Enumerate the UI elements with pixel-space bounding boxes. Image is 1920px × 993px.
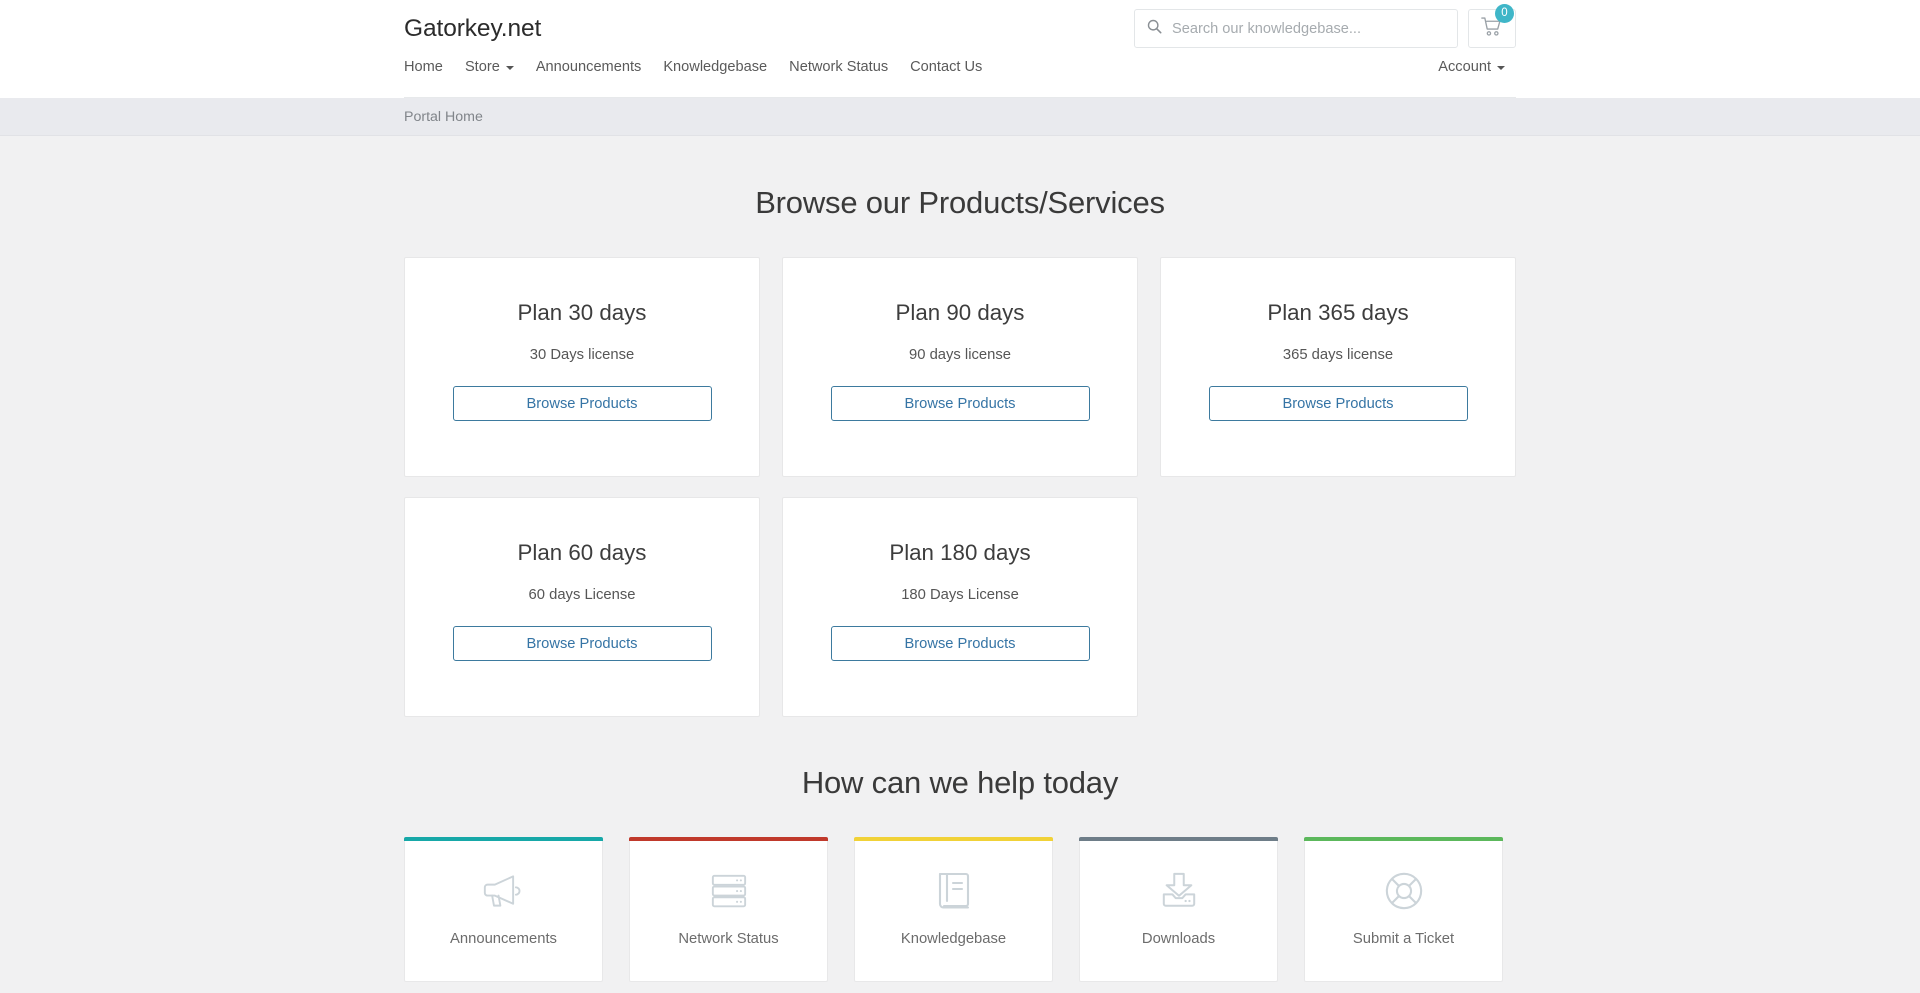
help-card-announcements[interactable]: Announcements (404, 837, 603, 982)
product-description: 60 days License (529, 587, 636, 603)
nav-item-contact-us[interactable]: Contact Us (899, 57, 993, 88)
browse-products-button[interactable]: Browse Products (1209, 386, 1468, 421)
product-card: Plan 60 days 60 days License Browse Prod… (404, 497, 760, 717)
shopping-cart-button[interactable]: 0 (1468, 9, 1516, 48)
card-accent-bar (1304, 837, 1503, 841)
nav-item-label: Home (404, 59, 443, 75)
product-title: Plan 365 days (1267, 300, 1408, 326)
product-description: 30 Days license (530, 347, 634, 363)
help-card-downloads[interactable]: Downloads (1079, 837, 1278, 982)
nav-item-label: Store (465, 59, 500, 75)
chevron-down-icon (506, 66, 514, 70)
products-section-title: Browse our Products/Services (404, 185, 1516, 221)
header-top-bar: Gatorkey.net (404, 0, 1516, 57)
nav-primary-links: Home Store Announcements Knowledgebase N… (404, 57, 993, 88)
breadcrumb-item-portal-home[interactable]: Portal Home (404, 109, 483, 125)
help-card-submit-a-ticket[interactable]: Submit a Ticket (1304, 837, 1503, 982)
nav-item-account[interactable]: Account (1438, 57, 1516, 88)
product-card: Plan 30 days 30 Days license Browse Prod… (404, 257, 760, 477)
help-card-knowledgebase[interactable]: Knowledgebase (854, 837, 1053, 982)
card-accent-bar (629, 837, 828, 841)
product-card-grid: Plan 30 days 30 Days license Browse Prod… (404, 257, 1516, 717)
nav-item-label: Announcements (536, 59, 641, 75)
book-icon (936, 865, 972, 917)
nav-item-label: Account (1438, 59, 1491, 75)
nav-item-label: Knowledgebase (663, 59, 767, 75)
cart-count-badge: 0 (1495, 4, 1514, 23)
nav-item-home[interactable]: Home (404, 57, 454, 88)
help-card-network-status[interactable]: Network Status (629, 837, 828, 982)
help-card-label: Downloads (1142, 931, 1215, 947)
main-navigation: Home Store Announcements Knowledgebase N… (404, 57, 1516, 98)
product-title: Plan 180 days (889, 540, 1030, 566)
header-right-group: 0 (1134, 9, 1516, 48)
browse-products-button[interactable]: Browse Products (831, 626, 1090, 661)
help-card-label: Submit a Ticket (1353, 931, 1454, 947)
nav-item-label: Contact Us (910, 59, 982, 75)
product-card: Plan 90 days 90 days license Browse Prod… (782, 257, 1138, 477)
search-icon (1147, 19, 1162, 39)
search-input[interactable] (1172, 21, 1445, 37)
product-title: Plan 90 days (896, 300, 1025, 326)
chevron-down-icon (1497, 66, 1505, 70)
search-box[interactable] (1134, 9, 1458, 48)
product-description: 365 days license (1283, 347, 1393, 363)
product-description: 90 days license (909, 347, 1011, 363)
product-title: Plan 60 days (518, 540, 647, 566)
site-header: Gatorkey.net (0, 0, 1920, 98)
product-description: 180 Days License (901, 587, 1019, 603)
product-card: Plan 180 days 180 Days License Browse Pr… (782, 497, 1138, 717)
nav-item-network-status[interactable]: Network Status (778, 57, 899, 88)
nav-secondary-links: Account (1438, 57, 1516, 88)
server-rack-icon (710, 865, 748, 917)
site-brand-title[interactable]: Gatorkey.net (404, 15, 541, 42)
breadcrumb-bar: Portal Home (0, 98, 1920, 136)
help-card-label: Knowledgebase (901, 931, 1006, 947)
help-card-label: Announcements (450, 931, 557, 947)
help-card-grid: Announcements (404, 837, 1516, 982)
life-ring-icon (1384, 865, 1424, 917)
card-accent-bar (854, 837, 1053, 841)
card-accent-bar (404, 837, 603, 841)
nav-item-announcements[interactable]: Announcements (525, 57, 652, 88)
help-section: How can we help today Announcements (404, 765, 1516, 982)
browse-products-button[interactable]: Browse Products (831, 386, 1090, 421)
help-card-label: Network Status (678, 931, 778, 947)
card-accent-bar (1079, 837, 1278, 841)
download-box-icon (1159, 865, 1199, 917)
help-section-title: How can we help today (404, 765, 1516, 801)
nav-item-knowledgebase[interactable]: Knowledgebase (652, 57, 778, 88)
nav-item-label: Network Status (789, 59, 888, 75)
product-title: Plan 30 days (518, 300, 647, 326)
main-content: Browse our Products/Services Plan 30 day… (0, 136, 1920, 982)
nav-item-store[interactable]: Store (454, 57, 525, 88)
megaphone-icon (483, 865, 525, 917)
product-card: Plan 365 days 365 days license Browse Pr… (1160, 257, 1516, 477)
browse-products-button[interactable]: Browse Products (453, 386, 712, 421)
browse-products-button[interactable]: Browse Products (453, 626, 712, 661)
